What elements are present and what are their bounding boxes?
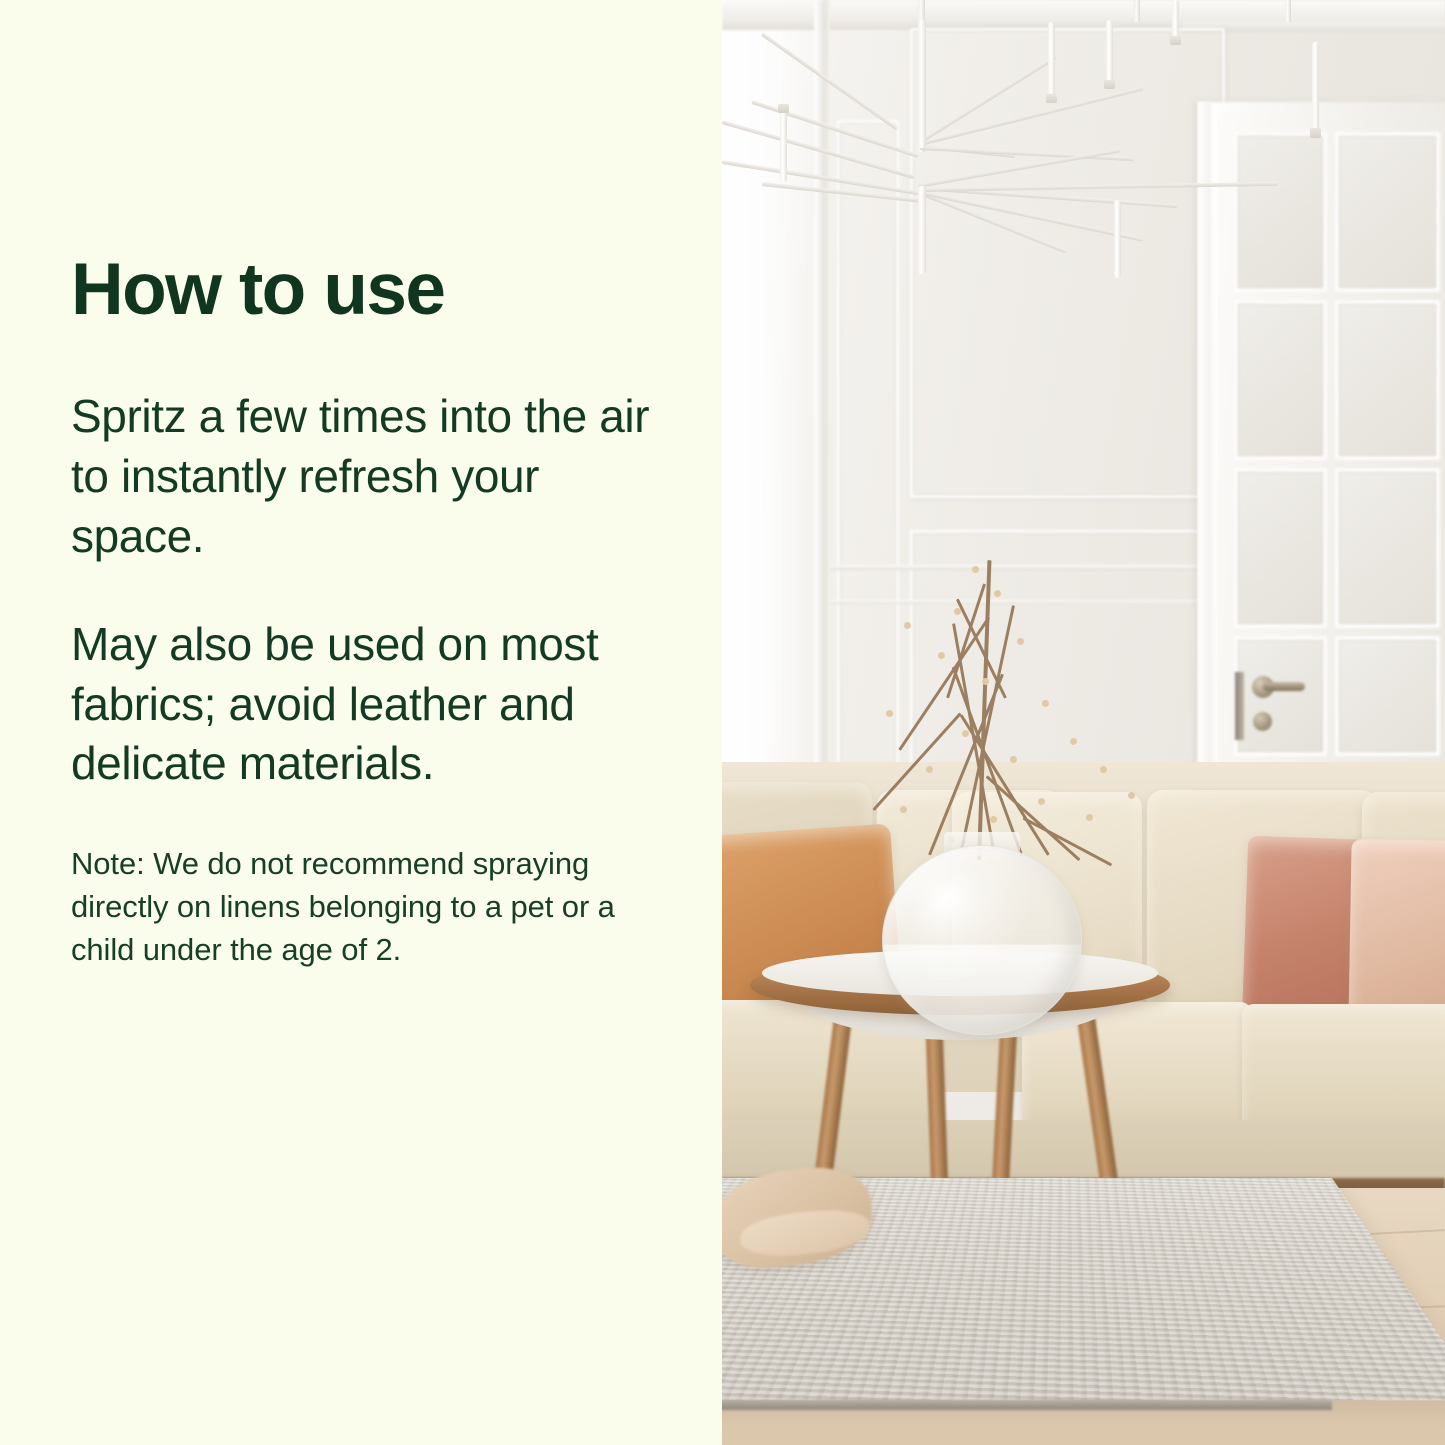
door-pane: [1234, 468, 1327, 628]
chandelier-stem: [1285, 0, 1291, 22]
instruction-paragraph-2: May also be used on most fabrics; avoid …: [71, 615, 616, 794]
chandelier-candle: [1106, 20, 1113, 86]
instruction-paragraph-1: Spritz a few times into the air to insta…: [71, 387, 656, 566]
door-pane: [1335, 468, 1440, 628]
chandelier-candle: [780, 110, 787, 182]
chandelier-arm: [918, 182, 1278, 192]
chandelier-candle-cap: [1046, 94, 1057, 103]
door-pane: [1335, 300, 1440, 460]
dried-branches: [842, 560, 1172, 860]
text-content: How to use Spritz a few times into the a…: [71, 253, 671, 971]
door-handle-icon: [1263, 682, 1305, 691]
door-pane: [1234, 300, 1327, 460]
chandelier-candle: [1048, 22, 1055, 100]
chandelier-candle: [1114, 200, 1121, 278]
glass-vase: [882, 845, 1082, 1035]
chandelier-candle-cap: [1310, 128, 1321, 138]
chandelier-candle: [918, 20, 926, 148]
how-to-use-card: How to use Spritz a few times into the a…: [0, 0, 1445, 1445]
chandelier-candle: [1312, 42, 1319, 134]
chandelier-arm: [722, 120, 915, 179]
pillow-blush: [1348, 839, 1445, 1031]
door-strike-plate: [1235, 672, 1244, 740]
chandelier: [722, 0, 1445, 230]
chandelier-arm: [920, 86, 1144, 146]
door-pane: [1234, 636, 1327, 756]
chandelier-candle-cap: [1104, 80, 1115, 89]
chandelier-arm: [762, 182, 922, 203]
chandelier-stem: [1134, 0, 1140, 22]
lifestyle-photo: [722, 0, 1445, 1445]
usage-note: Note: We do not recommend spraying direc…: [71, 842, 631, 971]
text-panel: How to use Spritz a few times into the a…: [0, 0, 722, 1445]
chandelier-candle-cap: [778, 104, 789, 113]
door-pane: [1335, 636, 1440, 756]
rug-edge: [722, 1400, 1332, 1410]
door-keyhole-icon: [1253, 712, 1272, 731]
chandelier-candle: [918, 186, 926, 274]
chandelier-candle-cap: [1170, 36, 1181, 45]
page-title: How to use: [71, 253, 671, 327]
chandelier-arm: [919, 56, 1057, 144]
